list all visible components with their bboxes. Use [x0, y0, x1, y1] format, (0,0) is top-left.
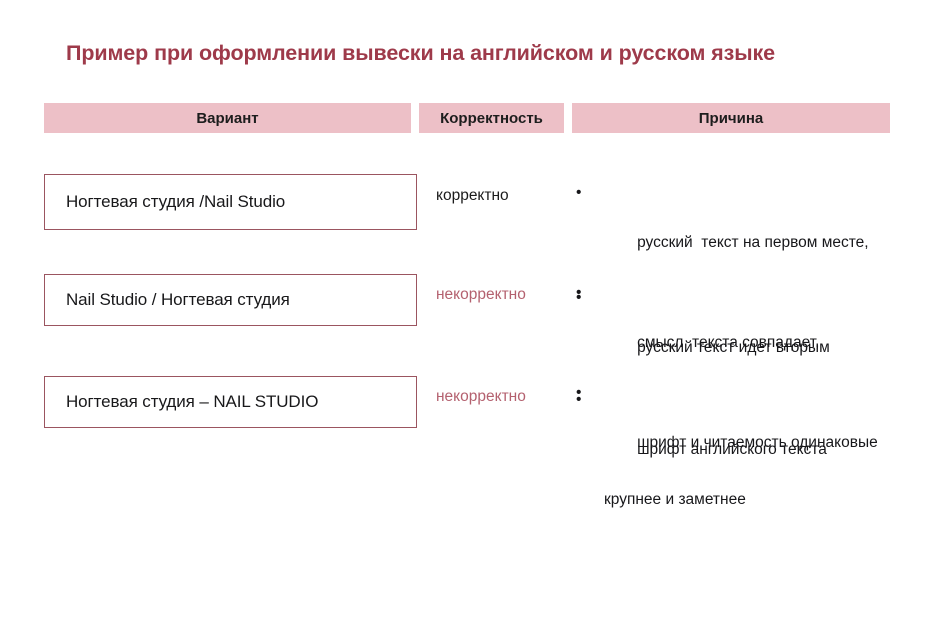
correctness-value: некорректно: [436, 286, 526, 304]
reason-text: русский текст на первом месте,: [637, 234, 869, 251]
list-item: • русский текст идет вторым: [572, 285, 902, 385]
column-header-reason: Причина: [572, 103, 890, 133]
bullet-icon: •: [576, 285, 581, 310]
column-header-variant: Вариант: [44, 103, 411, 133]
variant-text: Ногтевая студия /Nail Studio: [66, 192, 285, 212]
column-header-variant-label: Вариант: [196, 110, 258, 127]
reason-cell: • шрифт английского текста крупнее и зам…: [572, 387, 902, 562]
column-header-correctness: Корректность: [419, 103, 564, 133]
column-header-correctness-label: Корректность: [440, 110, 543, 127]
reason-list: • шрифт английского текста крупнее и зам…: [572, 387, 902, 562]
bullet-icon: •: [576, 180, 581, 205]
page-title: Пример при оформлении вывески на английс…: [66, 41, 775, 66]
table-header-row: Вариант Корректность Причина: [44, 103, 890, 133]
correctness-value: некорректно: [436, 388, 526, 406]
slide-canvas: Пример при оформлении вывески на английс…: [0, 0, 940, 627]
variant-text: Ногтевая студия – NAIL STUDIO: [66, 392, 318, 412]
column-header-reason-label: Причина: [699, 110, 764, 127]
reason-list: • русский текст идет вторым: [572, 285, 902, 385]
variant-box: Nail Studio / Ногтевая студия: [44, 274, 417, 326]
reason-text: шрифт английского текста: [637, 441, 827, 458]
bullet-icon: •: [576, 387, 581, 412]
correctness-value: корректно: [436, 187, 509, 205]
variant-box: Ногтевая студия /Nail Studio: [44, 174, 417, 230]
list-item: • шрифт английского текста крупнее и зам…: [572, 387, 902, 562]
variant-text: Nail Studio / Ногтевая студия: [66, 290, 290, 310]
list-item: • русский текст на первом месте,: [572, 180, 902, 280]
reason-text-continued: крупнее и заметнее: [594, 487, 902, 512]
reason-cell: • русский текст идет вторым: [572, 285, 902, 385]
variant-box: Ногтевая студия – NAIL STUDIO: [44, 376, 417, 428]
reason-text: русский текст идет вторым: [637, 339, 830, 356]
